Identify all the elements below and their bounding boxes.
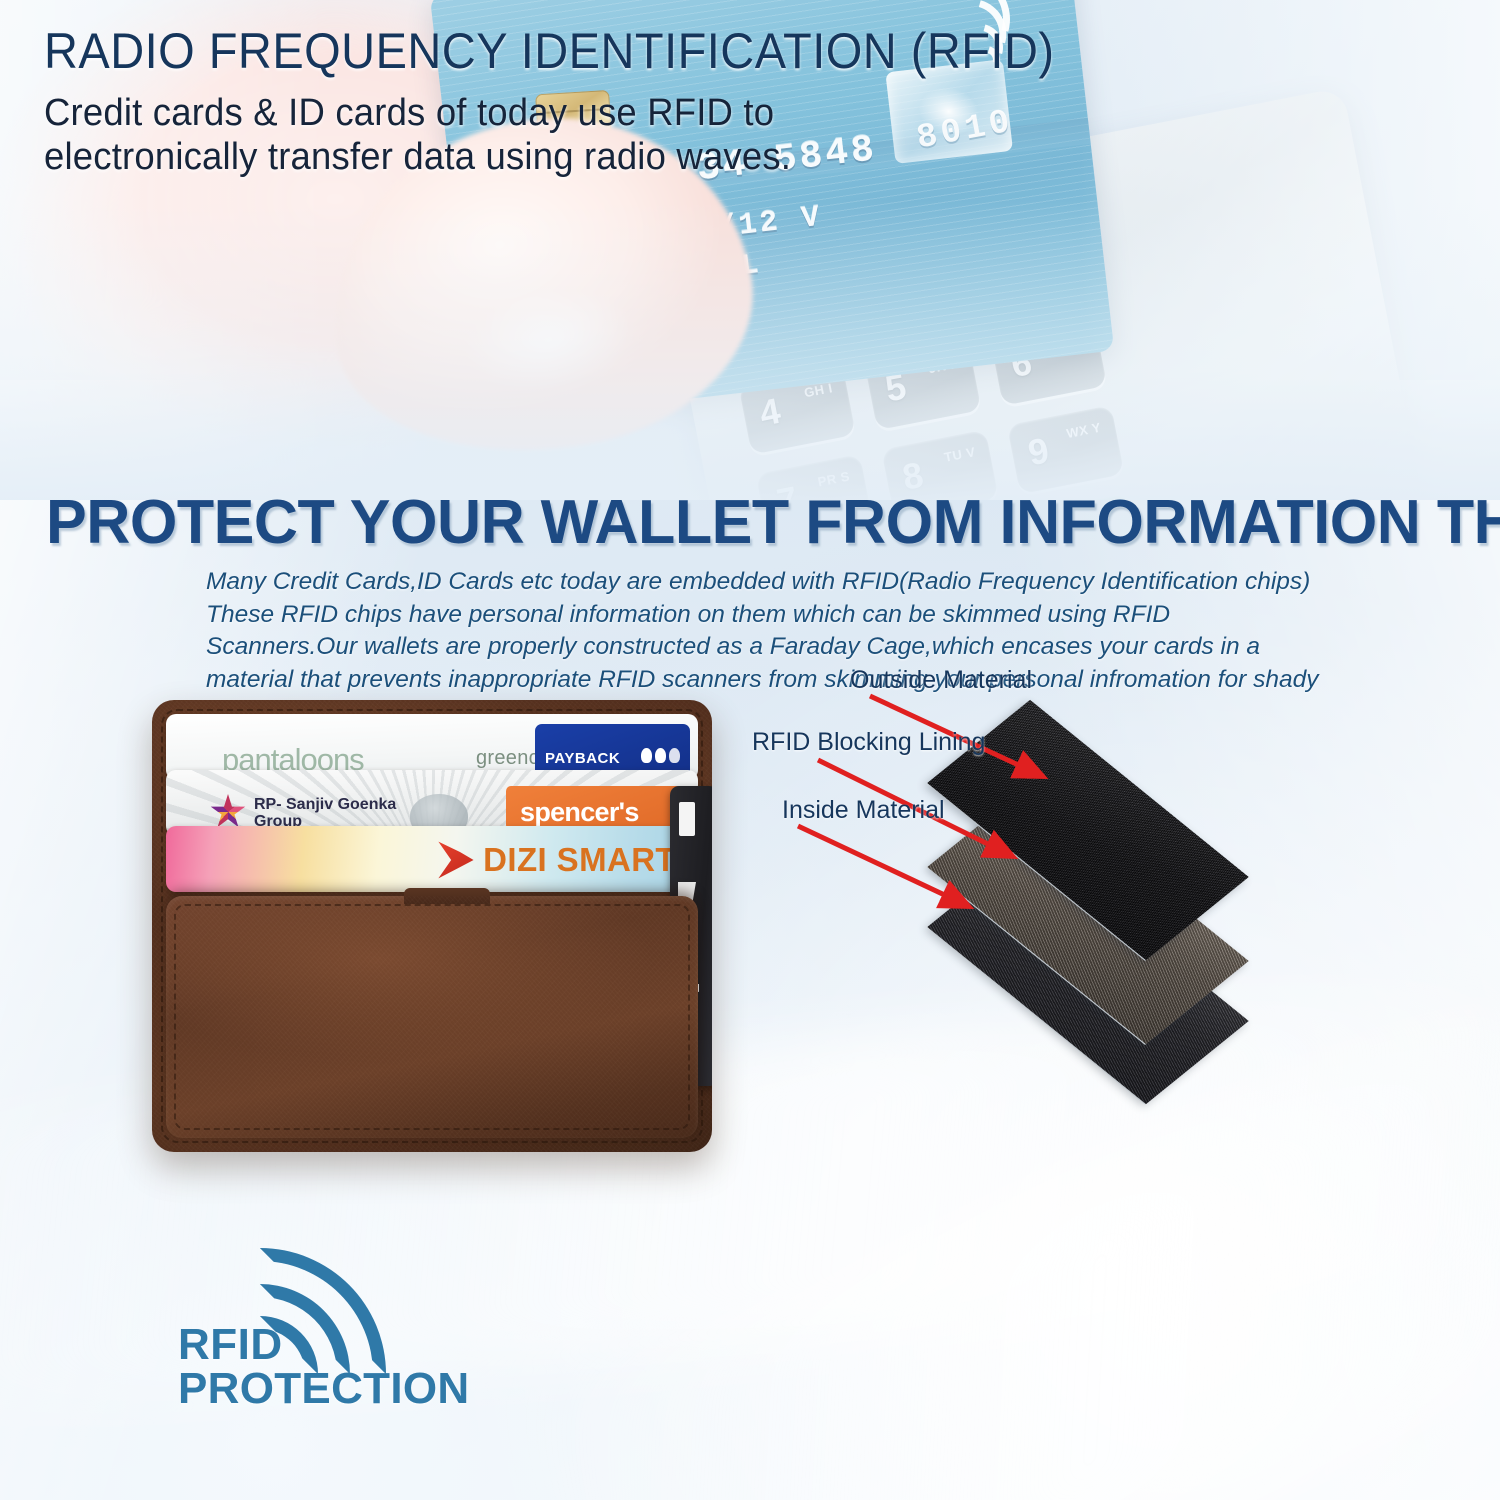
logo-line-1: RFID <box>178 1320 283 1370</box>
label-outside-material: Outside Material <box>850 666 1032 695</box>
logo-line-2: PROTECTION <box>178 1364 469 1414</box>
card-brand-text: RP- Sanjiv Goenka <box>254 796 396 813</box>
pocket-stitching <box>174 904 690 1130</box>
dizi-smart-logo: DIZI SMART <box>435 840 676 880</box>
header-subtitle-line1: Credit cards & ID cards of today use RFI… <box>44 92 774 135</box>
leather-wallet: pantaloons greencard PAYBACK RP- Sanjiv … <box>152 700 712 1152</box>
main-heading: PROTECT YOUR WALLET FROM INFORMATION THE… <box>46 492 1445 554</box>
header-subtitle-line2: electronically transfer data using radio… <box>44 136 791 179</box>
card-brand-label: DIZI SMART <box>483 841 676 879</box>
side-card-mark-1 <box>679 802 695 836</box>
payback-label: PAYBACK <box>545 750 620 767</box>
infographic-root: 1QZ 2AB C 3DE F 4GH I 5JK L 6MN O 7PR S … <box>0 0 1500 1500</box>
payback-icon <box>641 748 680 763</box>
wallet-front-pocket <box>166 896 698 1138</box>
material-layers-diagram: Outside Material RFID Blocking Lining In… <box>760 660 1320 960</box>
card-dizi-smart: DIZI SMART <box>166 826 698 892</box>
card-brand-label: RP- Sanjiv Goenka Group <box>254 796 396 830</box>
wallet-body: pantaloons greencard PAYBACK RP- Sanjiv … <box>152 700 712 1152</box>
spencers-label: spencer's <box>520 797 639 828</box>
dizi-arrow-icon <box>435 840 475 880</box>
page-title: RADIO FREQUENCY IDENTIFICATION (RFID) <box>44 26 1055 76</box>
arrow-inside-material <box>798 826 968 906</box>
label-inside-material: Inside Material <box>782 796 945 825</box>
card-slot-3: DIZI SMART <box>166 826 698 892</box>
spencers-logo: spencer's <box>506 786 692 830</box>
rfid-protection-logo: RFID PROTECTION <box>178 1268 488 1418</box>
label-rfid-blocking-lining: RFID Blocking Lining <box>752 728 985 757</box>
